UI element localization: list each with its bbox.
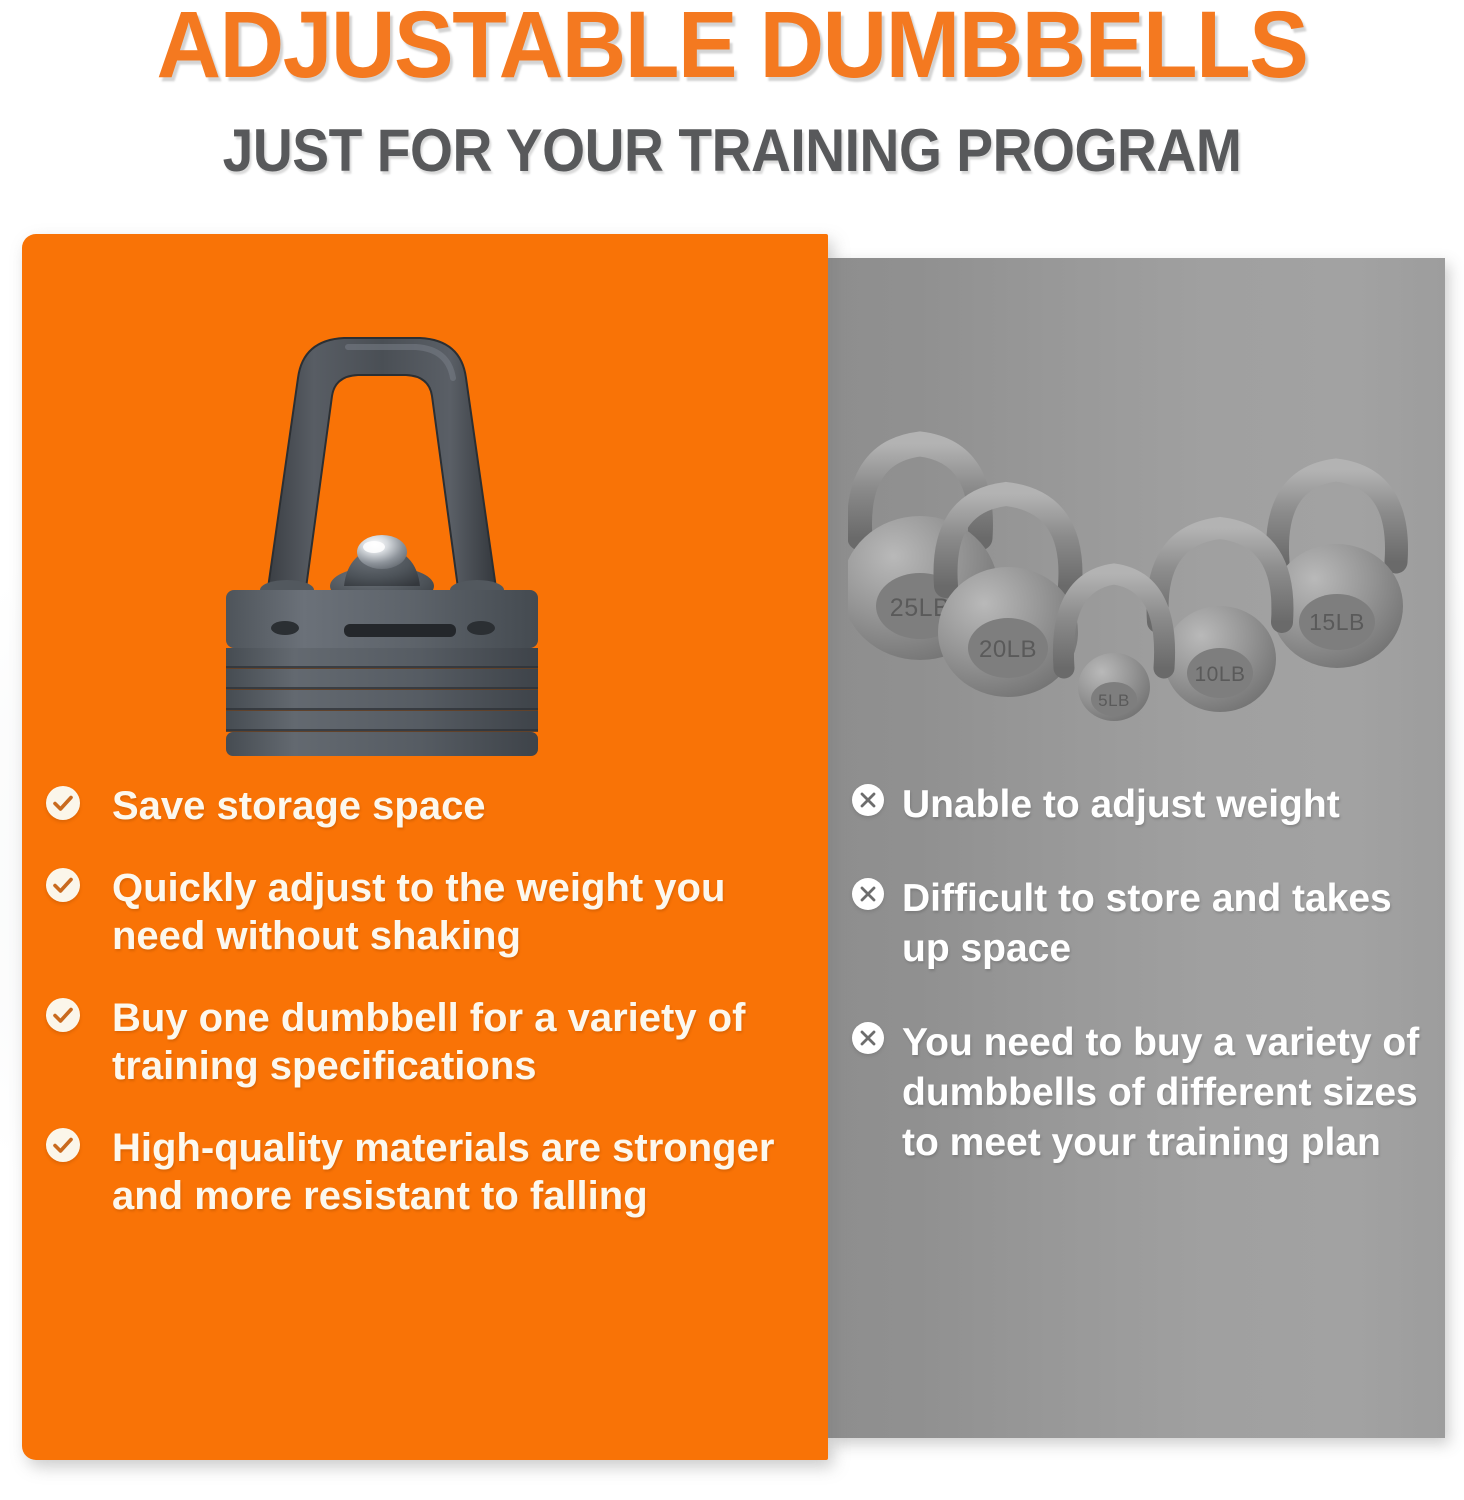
x-circle-icon [852, 1022, 884, 1054]
list-item-label: Save storage space [112, 782, 786, 830]
list-item-label: Buy one dumbbell for a variety of traini… [112, 994, 786, 1090]
kettlebell-15lb: 15LB [1271, 470, 1403, 668]
check-circle-icon [46, 998, 80, 1032]
kettlebell-set-image: 25LB 20LB 15LB 10LB [848, 410, 1438, 730]
list-item: Unable to adjust weight [852, 780, 1432, 830]
list-item: Buy one dumbbell for a variety of traini… [46, 994, 786, 1090]
adjustable-kettlebell-image [148, 268, 618, 768]
svg-text:5LB: 5LB [1098, 691, 1130, 710]
check-circle-icon [46, 1128, 80, 1162]
list-item-label: Difficult to store and takes up space [902, 874, 1432, 974]
svg-text:10LB: 10LB [1194, 663, 1245, 686]
x-circle-icon [852, 878, 884, 910]
page-title: ADJUSTABLE DUMBBELLS [44, 0, 1420, 94]
list-item-label: Unable to adjust weight [902, 780, 1432, 830]
page-subtitle: JUST FOR YOUR TRAINING PROGRAM [59, 118, 1406, 184]
list-item-label: Quickly adjust to the weight you need wi… [112, 864, 786, 960]
pros-bullet-list: Save storage space Quickly adjust to the… [46, 782, 786, 1254]
check-circle-icon [46, 868, 80, 902]
list-item: High-quality materials are stronger and … [46, 1124, 786, 1220]
x-circle-icon [852, 784, 884, 816]
list-item: You need to buy a variety of dumbbells o… [852, 1018, 1432, 1168]
list-item: Quickly adjust to the weight you need wi… [46, 864, 786, 960]
list-item-label: You need to buy a variety of dumbbells o… [902, 1018, 1432, 1168]
list-item: Save storage space [46, 782, 786, 830]
cons-bullet-list: Unable to adjust weight Difficult to sto… [852, 780, 1432, 1212]
svg-text:15LB: 15LB [1309, 609, 1365, 635]
list-item: Difficult to store and takes up space [852, 874, 1432, 974]
svg-text:20LB: 20LB [979, 636, 1037, 663]
kettlebell-10lb: 10LB [1158, 528, 1283, 712]
check-circle-icon [46, 786, 80, 820]
kettlebell-5lb: 5LB [1063, 574, 1164, 721]
infographic-page: ADJUSTABLE DUMBBELLS JUST FOR YOUR TRAIN… [0, 0, 1464, 1500]
list-item-label: High-quality materials are stronger and … [112, 1124, 786, 1220]
